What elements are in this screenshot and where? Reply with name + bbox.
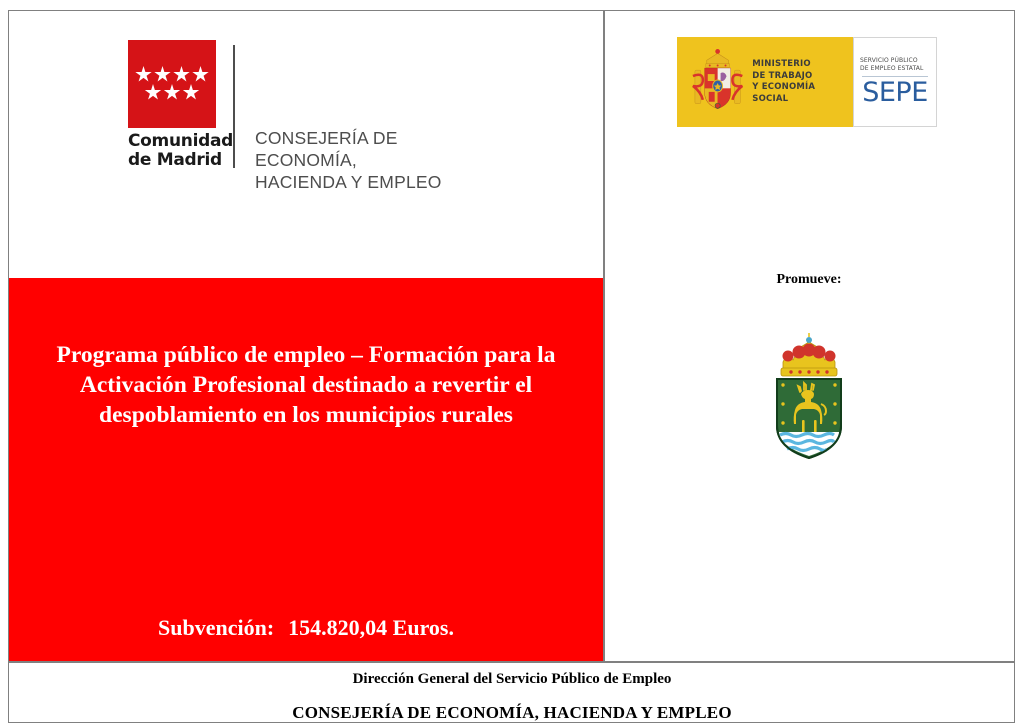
- madrid-wordmark-line1: Comunidad: [128, 132, 226, 151]
- sepe-panel: SERVICIO PÚBLICO DE EMPLEO ESTATAL SEPE: [853, 37, 937, 127]
- star-icon: [173, 66, 190, 83]
- madrid-flag-icon: [128, 40, 216, 128]
- ministerio-sepe-logo: MINISTERIO DE TRABAJO Y ECONOMÍA SOCIAL …: [677, 37, 937, 127]
- column-divider: [603, 10, 605, 661]
- star-icon: [154, 66, 171, 83]
- star-icon: [145, 84, 162, 101]
- star-icon: [164, 84, 181, 101]
- red-banner: Programa público de empleo – Formación p…: [9, 278, 603, 661]
- crown-icon: [781, 333, 837, 376]
- program-title: Programa público de empleo – Formación p…: [31, 340, 581, 430]
- escudo-municipal-icon: [767, 332, 851, 460]
- star-row-top: [128, 66, 216, 83]
- star-icon: [135, 66, 152, 83]
- star-row-bottom: [128, 84, 216, 101]
- footer-direccion-general: Dirección General del Servicio Público d…: [9, 671, 1015, 688]
- logo-vertical-rule: [233, 45, 235, 168]
- sepe-wordmark: SEPE: [862, 78, 928, 108]
- promueve-label: Promueve:: [603, 272, 1015, 288]
- footer: Dirección General del Servicio Público d…: [9, 662, 1015, 722]
- subsidy-line: Subvención:154.820,04 Euros.: [31, 615, 581, 641]
- comunidad-de-madrid-logo: Comunidad de Madrid CONSEJERÍA DE ECONOM…: [128, 40, 498, 170]
- poster-page: Comunidad de Madrid CONSEJERÍA DE ECONOM…: [0, 0, 1024, 724]
- subsidy-label: Subvención:: [158, 615, 274, 640]
- subsidy-amount: 154.820,04 Euros.: [288, 615, 454, 640]
- footer-consejeria: CONSEJERÍA DE ECONOMÍA, HACIENDA Y EMPLE…: [9, 703, 1015, 723]
- star-icon: [192, 66, 209, 83]
- escudo-de-espana-icon: [689, 46, 746, 118]
- madrid-wordmark: Comunidad de Madrid: [128, 132, 226, 170]
- star-icon: [183, 84, 200, 101]
- ministerio-text: MINISTERIO DE TRABAJO Y ECONOMÍA SOCIAL: [752, 59, 853, 105]
- consejeria-department-name: CONSEJERÍA DE ECONOMÍA, HACIENDA Y EMPLE…: [255, 127, 498, 193]
- madrid-wordmark-line2: de Madrid: [128, 151, 226, 170]
- sepe-tagline: SERVICIO PÚBLICO DE EMPLEO ESTATAL: [860, 57, 930, 73]
- ministerio-panel: MINISTERIO DE TRABAJO Y ECONOMÍA SOCIAL: [677, 37, 853, 127]
- shield-icon: [777, 379, 841, 458]
